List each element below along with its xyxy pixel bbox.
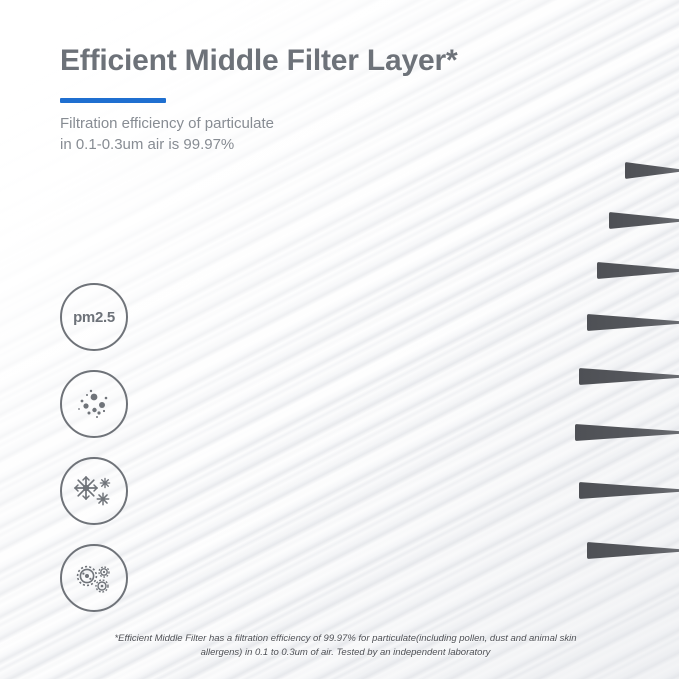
pollen-gear-icon [71,557,117,599]
page-title: Efficient Middle Filter Layer* [60,44,457,78]
dust-particles-icon [73,383,115,425]
pollen-gear-badge [60,544,128,612]
accent-rule [60,98,166,103]
footnote-line-2: allergens) in 0.1 to 0.3um of air. Teste… [60,646,631,660]
pm25-badge: pm2.5 [60,283,128,351]
filter-product-image: Efficient Middle Filter Layer* Filtratio… [0,0,679,679]
page-subtitle: Filtration efficiency of particulate in … [60,113,274,155]
footnote-line-1: *Efficient Middle Filter has a filtratio… [60,632,631,646]
snowflake-badge [60,457,128,525]
footnote: *Efficient Middle Filter has a filtratio… [60,632,631,660]
pm25-label: pm2.5 [73,309,115,326]
snowflake-icon [71,470,117,512]
dust-particles-badge [60,370,128,438]
